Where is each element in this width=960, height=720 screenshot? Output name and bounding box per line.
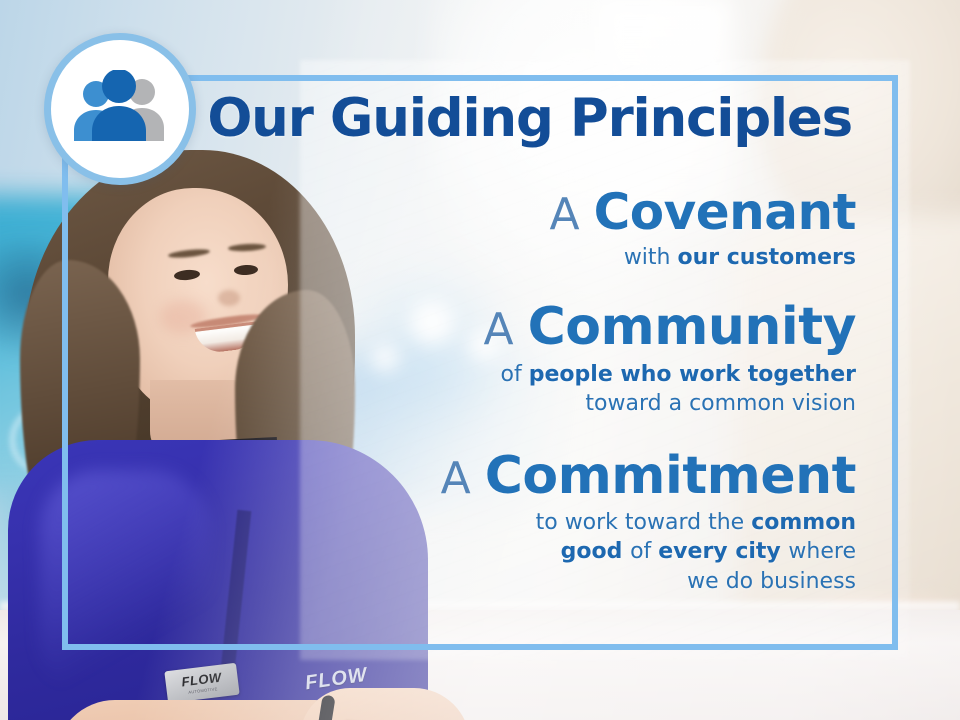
subtext-plain: do: [726, 569, 760, 594]
subtext-plain: work: [565, 510, 625, 535]
principle-subtext: with our customers: [0, 243, 856, 272]
subtext-plain: toward: [625, 510, 708, 535]
principle-subtext: to work toward the commongood of every c…: [0, 508, 856, 596]
subtext-line: toward a common vision: [0, 389, 856, 418]
principle-community: A Community of people who work together …: [0, 300, 856, 418]
principle-keyword: Commitment: [485, 446, 856, 506]
subtext-plain: we: [687, 569, 726, 594]
subtext-line: good of every city where: [0, 537, 856, 566]
subtext-plain: where: [788, 539, 856, 564]
subtext-plain: of: [630, 539, 658, 564]
principle-article: A: [484, 304, 528, 355]
subtext-plain: business: [760, 569, 856, 594]
subtext-plain: with: [624, 245, 678, 270]
principle-keyword: Covenant: [594, 183, 856, 241]
principle-keyword: Community: [528, 297, 856, 357]
subtext-plain: to: [536, 510, 565, 535]
subtext-emphasis: good: [561, 539, 630, 564]
principle-heading: A Covenant: [0, 186, 856, 239]
subtext-emphasis: people who work together: [529, 362, 856, 387]
principles-list: A Covenant with our customers A Communit…: [0, 186, 898, 596]
principle-article: A: [550, 189, 594, 240]
subtext-plain: of: [501, 362, 529, 387]
principle-subtext: of people who work together toward a com…: [0, 360, 856, 419]
page-title: Our Guiding Principles: [0, 92, 898, 145]
subtext-line: we do business: [0, 567, 856, 596]
principle-covenant: A Covenant with our customers: [0, 186, 856, 272]
principle-heading: A Commitment: [0, 449, 856, 504]
subtext-emphasis: our customers: [677, 245, 856, 270]
subtext-emphasis: city: [735, 539, 788, 564]
principle-commitment: A Commitment to work toward the commongo…: [0, 449, 856, 597]
principle-heading: A Community: [0, 300, 856, 355]
subtext-line: to work toward the common: [0, 508, 856, 537]
subtext-emphasis: every: [658, 539, 735, 564]
guiding-principles-graphic: FLOW AUTOMOTIVE FLOW: [0, 0, 960, 720]
subtext-plain: the: [708, 510, 751, 535]
principle-article: A: [441, 453, 485, 504]
subtext-line: of people who work together: [0, 360, 856, 389]
subtext-emphasis: common: [751, 510, 856, 535]
